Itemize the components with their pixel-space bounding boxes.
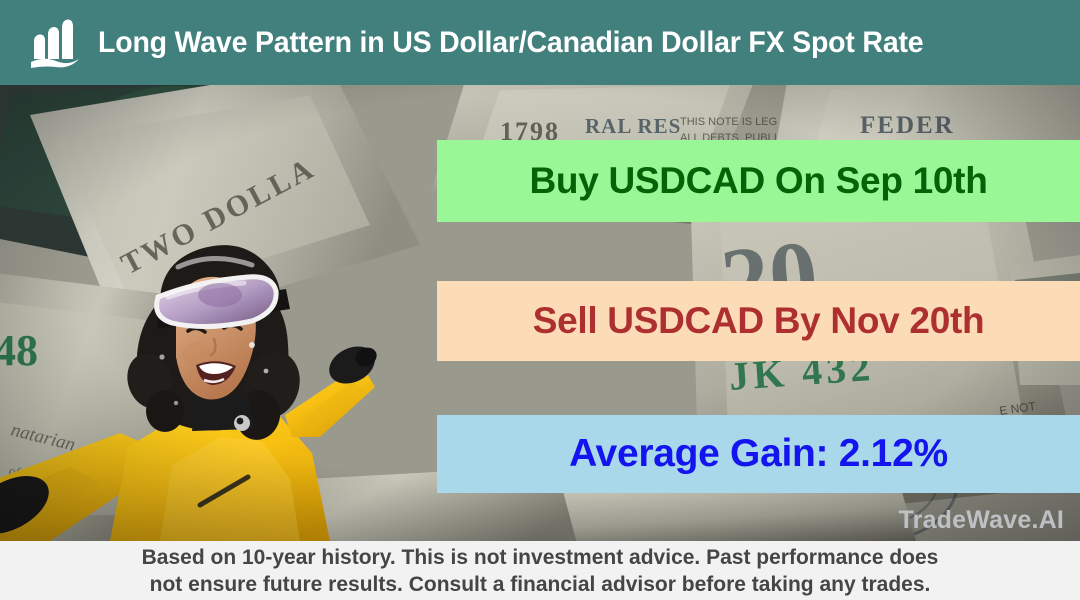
disclaimer-line-2: not ensure future results. Consult a fin… xyxy=(150,571,931,598)
disclaimer-footer: Based on 10-year history. This is not in… xyxy=(0,541,1080,600)
page-title: Long Wave Pattern in US Dollar/Canadian … xyxy=(98,26,923,60)
header-bar: Long Wave Pattern in US Dollar/Canadian … xyxy=(0,0,1080,85)
callout-sell-signal: Sell USDCAD By Nov 20th xyxy=(437,281,1080,361)
callout-buy-signal: Buy USDCAD On Sep 10th xyxy=(437,140,1080,222)
signal-card: TWO DOLLA 48 natarian of the United Stat… xyxy=(0,0,1080,600)
bar-chart-wave-logo-icon xyxy=(26,14,84,72)
brand-watermark: TradeWave.AI xyxy=(899,506,1064,535)
callout-average-gain: Average Gain: 2.12% xyxy=(437,415,1080,493)
disclaimer-line-1: Based on 10-year history. This is not in… xyxy=(142,544,939,571)
